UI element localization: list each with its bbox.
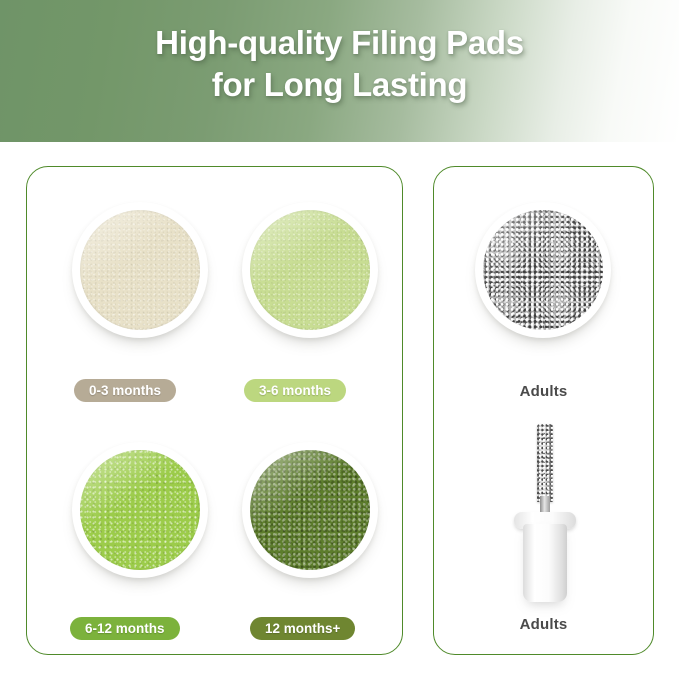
pad-label-badge: 6-12 months	[70, 617, 180, 640]
filing-pad-icon	[72, 442, 208, 578]
pad-item-12-months-plus[interactable]	[242, 442, 378, 578]
pad-label-badge: 0-3 months	[74, 379, 176, 402]
pad-label-badge: 12 months+	[250, 617, 355, 640]
pad-item-6-12-months[interactable]	[72, 442, 208, 578]
filing-pad-icon	[72, 202, 208, 338]
drill-bit-body	[523, 524, 567, 602]
pad-surface	[80, 210, 200, 330]
drill-bit-icon[interactable]	[496, 424, 594, 602]
pad-surface	[483, 210, 603, 330]
filing-pad-icon	[475, 202, 611, 338]
drill-bit-grit-head	[537, 424, 553, 502]
filing-pad-icon	[242, 202, 378, 338]
pad-surface	[250, 450, 370, 570]
header-banner: High-quality Filing Pads for Long Lastin…	[0, 0, 679, 142]
pad-surface	[250, 210, 370, 330]
pad-item-3-6-months[interactable]	[242, 202, 378, 338]
pad-item-adults[interactable]	[475, 202, 611, 338]
filing-pad-icon	[242, 442, 378, 578]
adult-pad-label: Adults	[433, 383, 654, 400]
page-title: High-quality Filing Pads for Long Lastin…	[0, 22, 679, 106]
adult-bit-label: Adults	[433, 616, 654, 633]
pad-item-0-3-months[interactable]	[72, 202, 208, 338]
pad-surface	[80, 450, 200, 570]
pad-label-badge: 3-6 months	[244, 379, 346, 402]
